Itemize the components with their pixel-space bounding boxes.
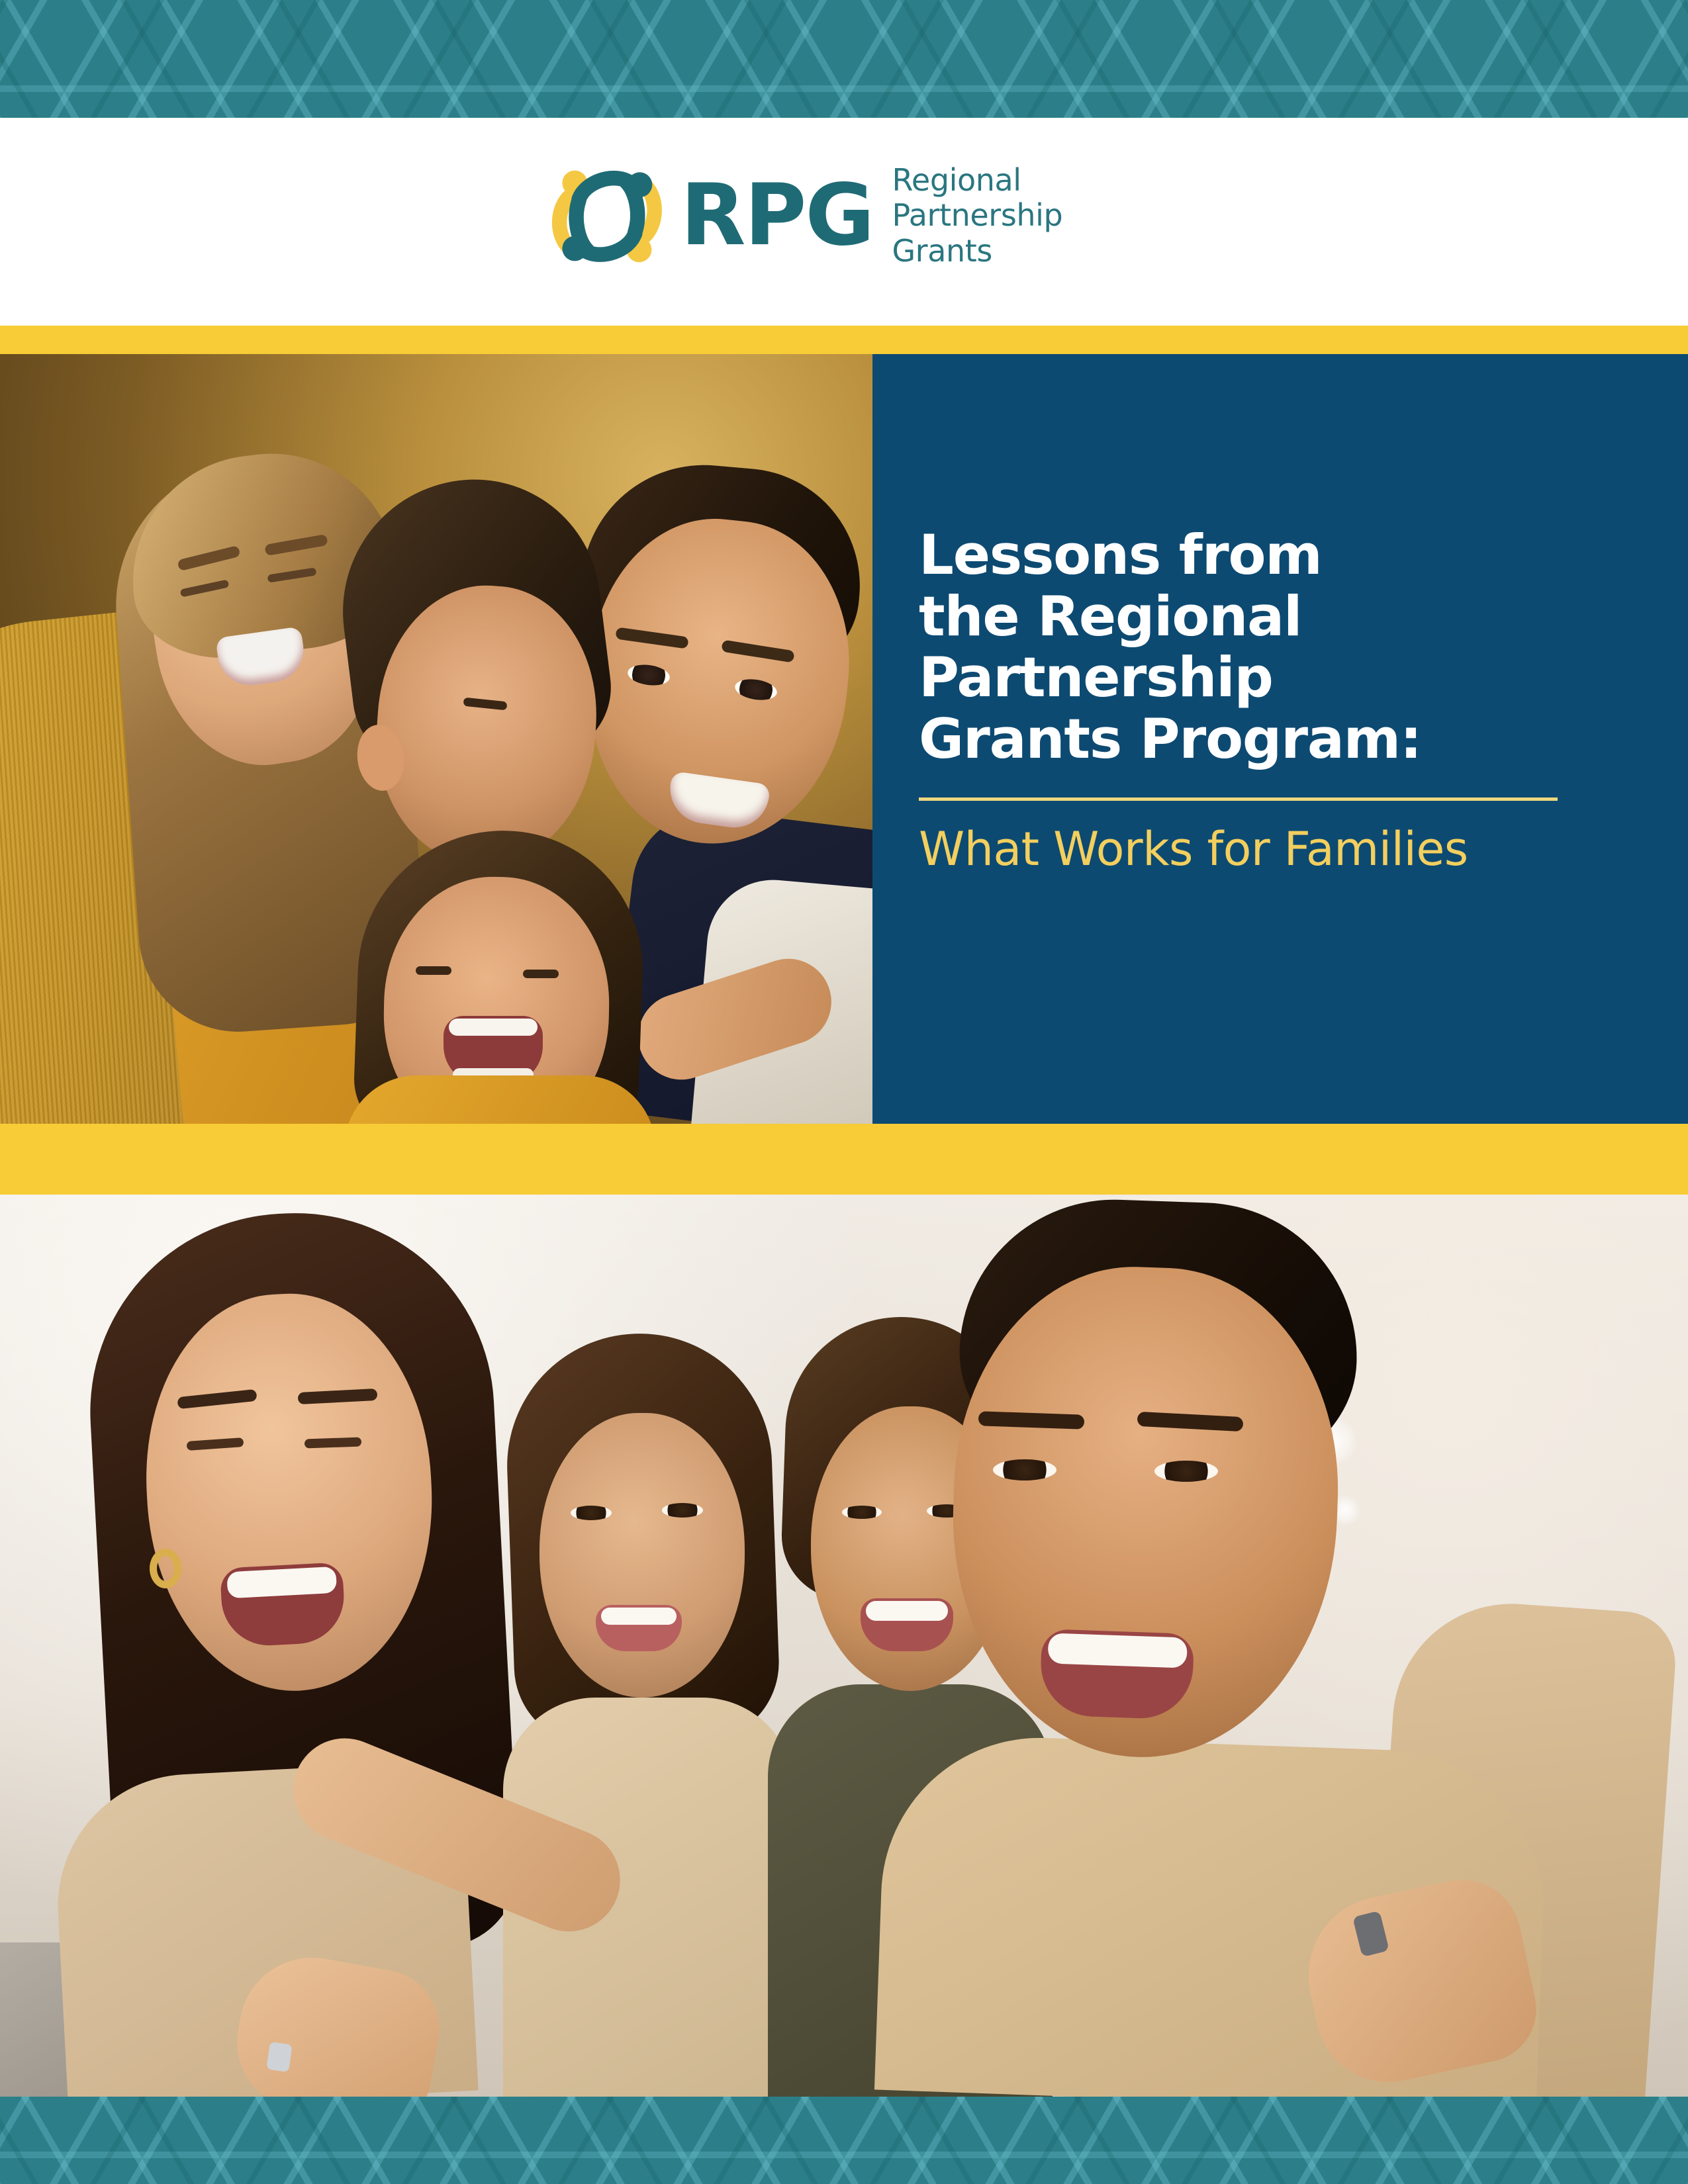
hero-row: Lessons from the Regional Partnership Gr… (0, 354, 1688, 1124)
title-line-3: Partnership (919, 647, 1581, 709)
triangle-pattern-layer-dark (0, 0, 1688, 118)
hero-girl-eye-right (523, 970, 559, 978)
rpg-circle-people-logo-icon (547, 156, 666, 275)
secondary-girl-face (539, 1413, 745, 1698)
title-line-4: Grants Program: (919, 709, 1581, 770)
logo-tagline-line-1: Regional (892, 163, 1062, 198)
hero-family-photo (0, 354, 872, 1124)
page-subtitle: What Works for Families (919, 823, 1688, 875)
secondary-father-eye-right (1154, 1461, 1218, 1482)
secondary-boy-mouth (861, 1598, 953, 1651)
logo-tagline: Regional Partnership Grants (892, 163, 1062, 269)
page-title: Lessons from the Regional Partnership Gr… (919, 525, 1581, 770)
logo-tagline-line-2: Partnership (892, 198, 1062, 233)
secondary-father-eye-left (993, 1459, 1056, 1480)
hero-girl-shirt (344, 1075, 655, 1124)
secondary-girl-eye-right (662, 1503, 703, 1518)
secondary-girl-mouth (596, 1605, 682, 1651)
title-divider-rule (919, 797, 1558, 801)
top-pattern-band (0, 0, 1688, 118)
gold-divider-bar-top (0, 326, 1688, 354)
secondary-family-photo (0, 1195, 1688, 2097)
logo-acronym: RPG (680, 173, 873, 258)
triangle-pattern-layer-dark (0, 2097, 1688, 2184)
hero-girl-eye-left (416, 966, 451, 975)
secondary-father-mouth (1039, 1629, 1194, 1720)
secondary-boy-eye-left (842, 1506, 882, 1519)
title-panel: Lessons from the Regional Partnership Gr… (872, 354, 1688, 1124)
logo-tagline-line-3: Grants (892, 234, 1062, 269)
secondary-girl-eye-left (571, 1506, 612, 1520)
rpg-logo-lockup[interactable]: RPG Regional Partnership Grants (547, 156, 1062, 275)
header-band: RPG Regional Partnership Grants (0, 118, 1688, 326)
title-line-2: the Regional (919, 586, 1581, 648)
title-line-1: Lessons from (919, 525, 1581, 586)
bottom-pattern-band (0, 2097, 1688, 2184)
secondary-mother-earring (150, 1549, 181, 1588)
secondary-mother-eye-right (305, 1437, 361, 1449)
secondary-mother-ring (266, 2042, 293, 2072)
gold-divider-bar-middle (0, 1124, 1688, 1195)
